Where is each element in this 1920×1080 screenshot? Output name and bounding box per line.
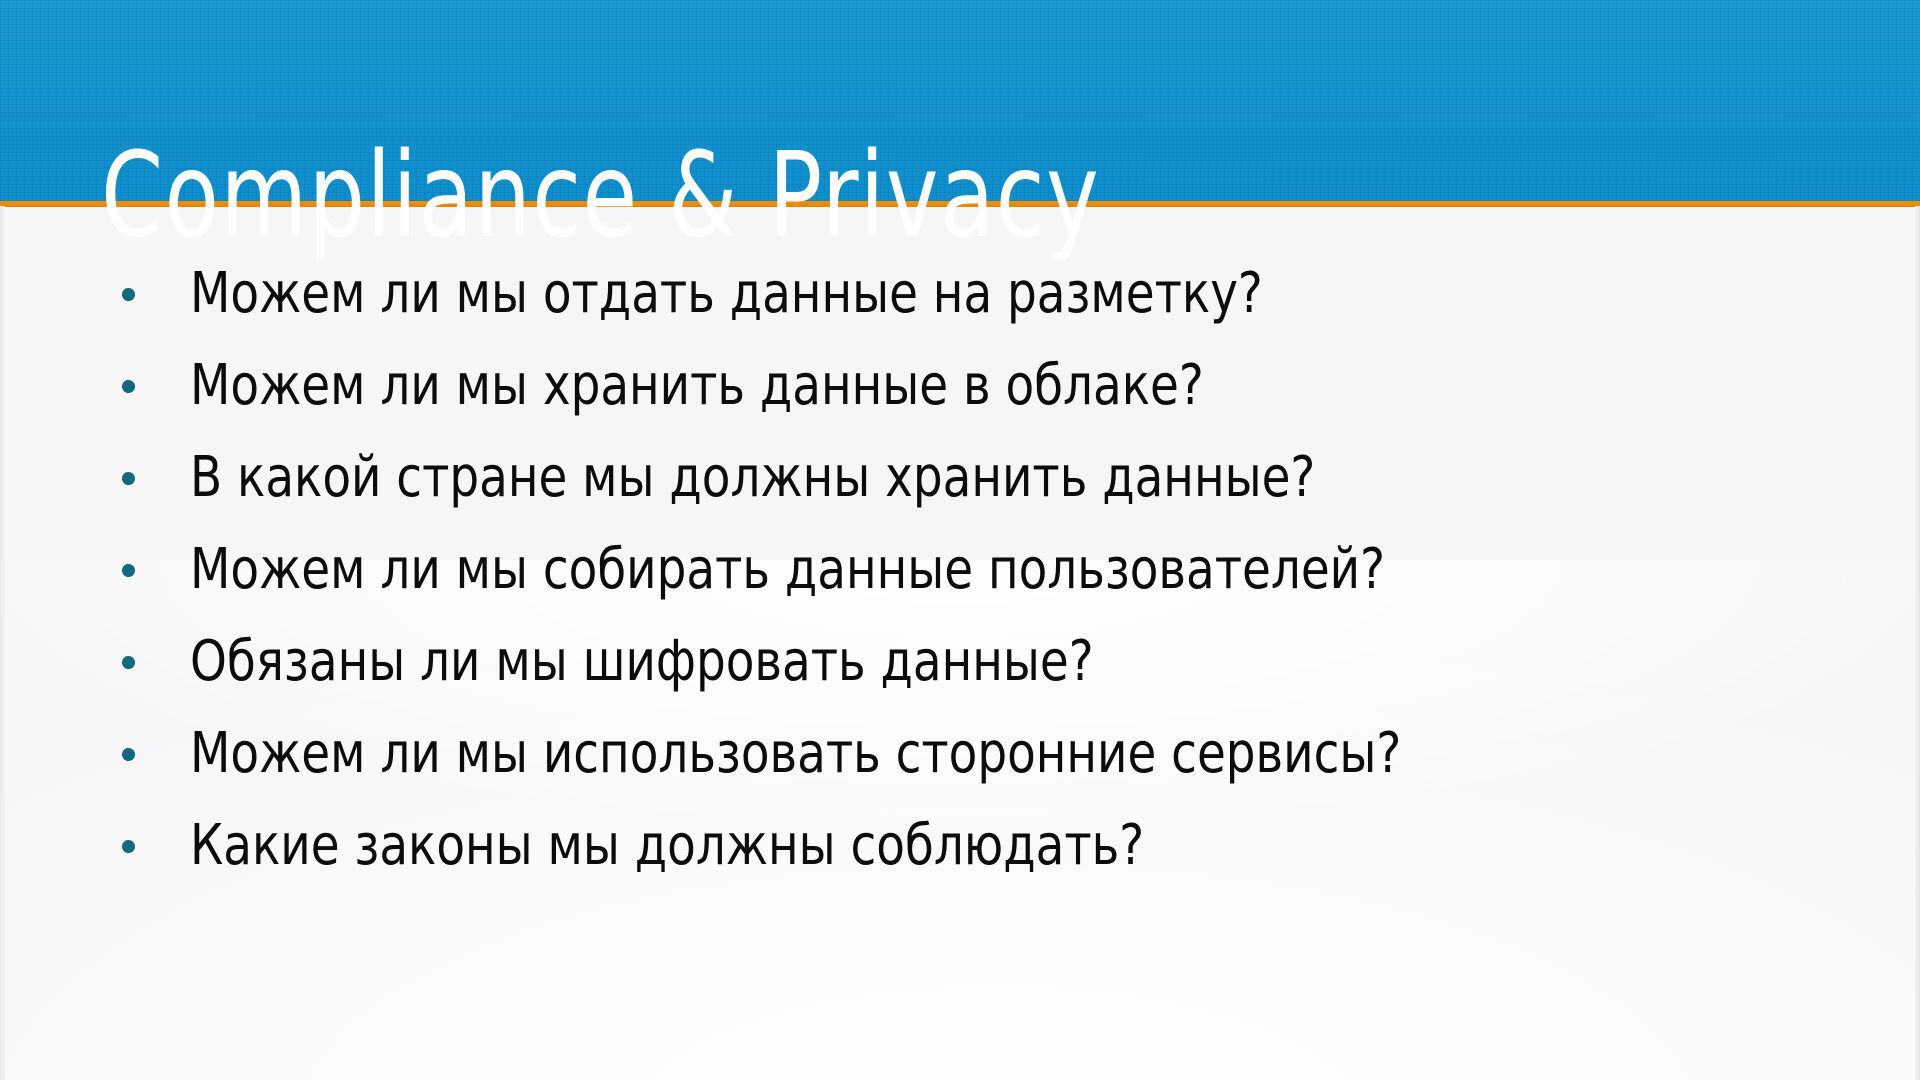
bullet-dot-icon [122, 472, 135, 485]
bullet-text: Можем ли мы использовать сторонние серви… [190, 723, 1401, 785]
presentation-slide: Compliance & Privacy Можем ли мы отдать … [0, 0, 1920, 1080]
bullet-text: Можем ли мы хранить данные в облаке? [190, 355, 1204, 417]
bullet-text: В какой стране мы должны хранить данные? [190, 447, 1315, 509]
bullet-dot-icon [122, 656, 135, 669]
bullet-text: Можем ли мы отдать данные на разметку? [190, 263, 1263, 325]
list-item: В какой стране мы должны хранить данные? [0, 432, 1920, 524]
list-item: Какие законы мы должны соблюдать? [0, 800, 1920, 892]
bullet-dot-icon [122, 380, 135, 393]
bullet-dot-icon [122, 840, 135, 853]
list-item: Обязаны ли мы шифровать данные? [0, 616, 1920, 708]
bullet-text: Какие законы мы должны соблюдать? [190, 815, 1144, 877]
bullet-text: Обязаны ли мы шифровать данные? [190, 631, 1094, 693]
bullet-dot-icon [122, 288, 135, 301]
list-item: Можем ли мы хранить данные в облаке? [0, 340, 1920, 432]
bullet-text: Можем ли мы собирать данные пользователе… [190, 539, 1385, 601]
bullet-dot-icon [122, 564, 135, 577]
bullet-dot-icon [122, 748, 135, 761]
list-item: Можем ли мы отдать данные на разметку? [0, 248, 1920, 340]
list-item: Можем ли мы собирать данные пользователе… [0, 524, 1920, 616]
slide-bullet-list: Можем ли мы отдать данные на разметку? М… [0, 248, 1920, 892]
list-item: Можем ли мы использовать сторонние серви… [0, 708, 1920, 800]
